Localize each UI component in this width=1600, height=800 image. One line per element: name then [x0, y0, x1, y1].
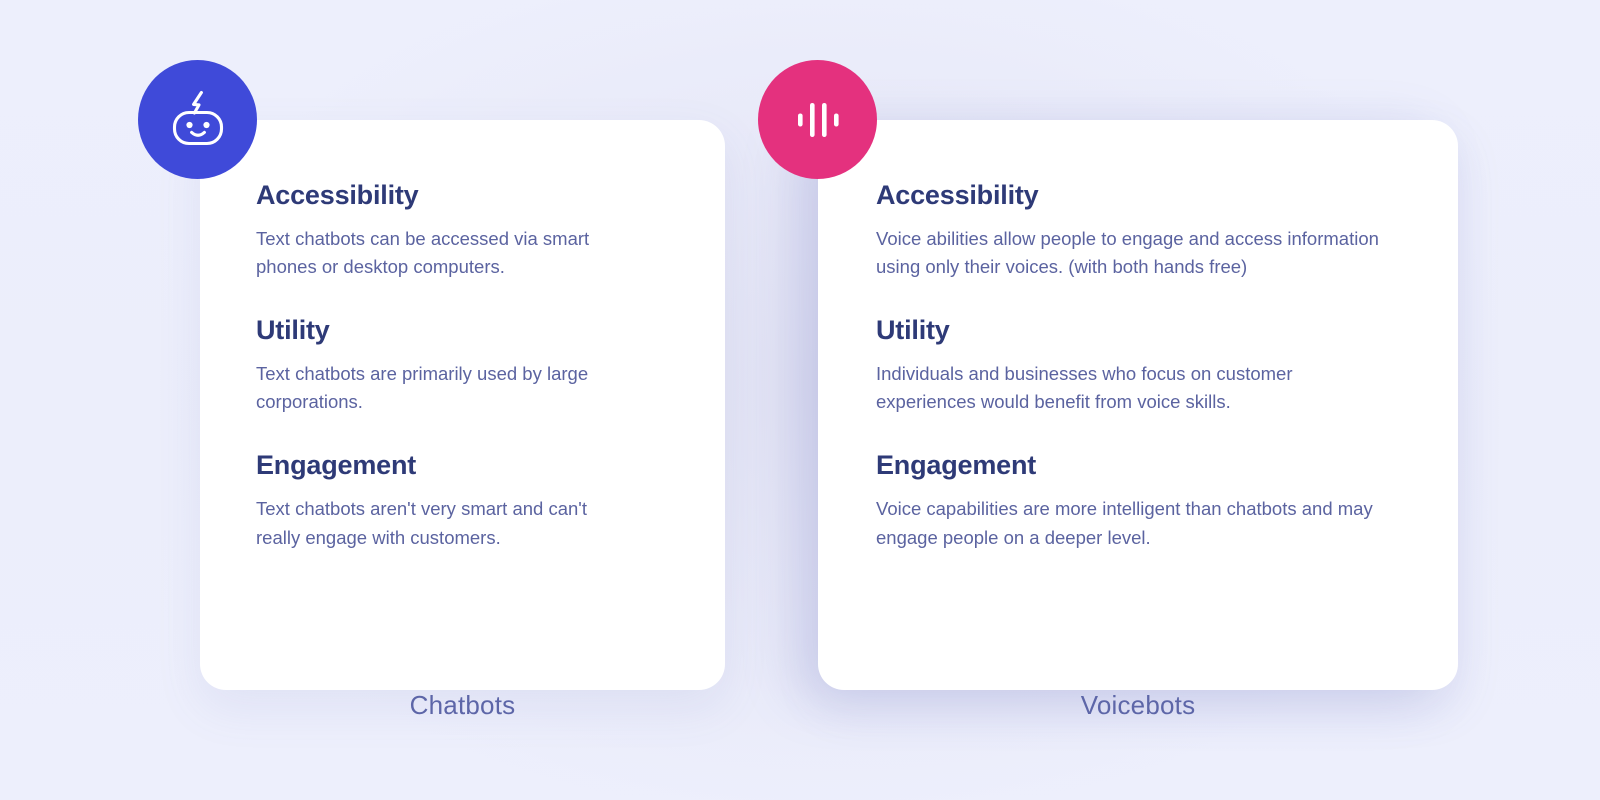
voicebots-caption: Voicebots — [818, 690, 1458, 721]
chatbots-section-accessibility: Accessibility Text chatbots can be acces… — [256, 180, 685, 281]
section-heading: Engagement — [256, 450, 685, 481]
voice-waveform-icon-glyph — [789, 91, 847, 149]
chatbots-caption: Chatbots — [200, 690, 725, 721]
voicebots-card: Accessibility Voice abilities allow peop… — [818, 120, 1458, 690]
chatbots-card-body: Accessibility Text chatbots can be acces… — [256, 180, 685, 552]
section-body: Voice abilities allow people to engage a… — [876, 225, 1381, 281]
chatbots-card: Accessibility Text chatbots can be acces… — [200, 120, 725, 690]
section-body: Text chatbots can be accessed via smart … — [256, 225, 631, 281]
section-heading: Utility — [256, 315, 685, 346]
voicebots-card-body: Accessibility Voice abilities allow peop… — [876, 180, 1412, 552]
robot-face-icon — [138, 60, 257, 179]
section-body: Text chatbots are primarily used by larg… — [256, 360, 631, 416]
voice-waveform-icon — [758, 60, 877, 179]
voicebots-section-utility: Utility Individuals and businesses who f… — [876, 315, 1412, 416]
section-body: Voice capabilities are more intelligent … — [876, 495, 1381, 551]
robot-face-icon-glyph — [164, 86, 232, 154]
voicebots-section-accessibility: Accessibility Voice abilities allow peop… — [876, 180, 1412, 281]
comparison-infographic: Accessibility Text chatbots can be acces… — [0, 0, 1600, 800]
chatbots-section-engagement: Engagement Text chatbots aren't very sma… — [256, 450, 685, 551]
section-body: Individuals and businesses who focus on … — [876, 360, 1381, 416]
voicebots-section-engagement: Engagement Voice capabilities are more i… — [876, 450, 1412, 551]
section-heading: Accessibility — [876, 180, 1412, 211]
section-heading: Engagement — [876, 450, 1412, 481]
section-body: Text chatbots aren't very smart and can'… — [256, 495, 631, 551]
chatbots-section-utility: Utility Text chatbots are primarily used… — [256, 315, 685, 416]
section-heading: Utility — [876, 315, 1412, 346]
section-heading: Accessibility — [256, 180, 685, 211]
